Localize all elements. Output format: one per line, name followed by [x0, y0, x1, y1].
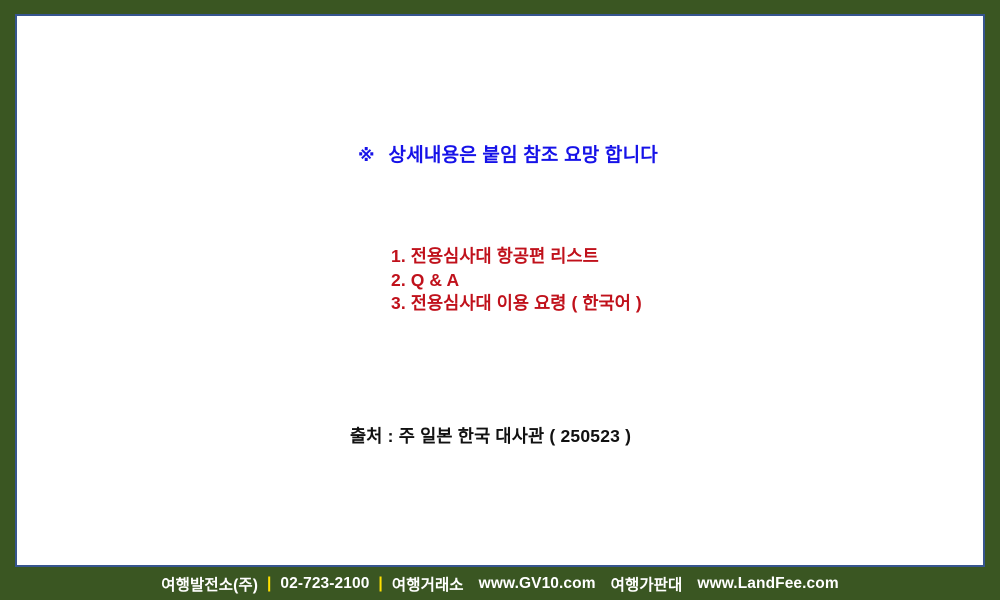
attachment-list: 1. 전용심사대 항공편 리스트 2. Q & A 3. 전용심사대 이용 요령… [391, 245, 642, 316]
footer-separator: | [378, 575, 382, 593]
footer-bar: 여행발전소(주) | 02-723-2100 | 여행거래소 www.GV10.… [0, 567, 1000, 600]
list-item: 3. 전용심사대 이용 요령 ( 한국어 ) [391, 292, 642, 316]
source-credit: 출처 : 주 일본 한국 대사관 ( 250523 ) [350, 423, 631, 448]
footer-link-landfee[interactable]: www.LandFee.com [697, 575, 838, 593]
reference-mark-icon: ※ [358, 147, 375, 164]
slide-content-canvas: ※ 상세내용은 붙임 참조 요망 합니다 1. 전용심사대 항공편 리스트 2.… [15, 14, 985, 567]
footer-phone-number: 02-723-2100 [280, 575, 369, 593]
footer-link-gv10[interactable]: www.GV10.com [479, 575, 596, 593]
slide-root: ※ 상세내용은 붙임 참조 요망 합니다 1. 전용심사대 항공편 리스트 2.… [0, 0, 1000, 600]
footer-contact-line: 여행발전소(주) | 02-723-2100 | 여행거래소 www.GV10.… [161, 573, 838, 595]
footer-company-name: 여행발전소(주) [161, 573, 258, 595]
headline-notice: ※ 상세내용은 붙임 참조 요망 합니다 [358, 146, 658, 165]
list-item: 2. Q & A [391, 269, 642, 293]
list-item: 1. 전용심사대 항공편 리스트 [391, 245, 642, 269]
footer-separator: | [267, 575, 271, 593]
footer-brand-landfee: 여행가판대 [611, 573, 683, 595]
footer-brand-gv10: 여행거래소 [392, 573, 464, 595]
headline-text: 상세내용은 붙임 참조 요망 합니다 [389, 146, 658, 165]
